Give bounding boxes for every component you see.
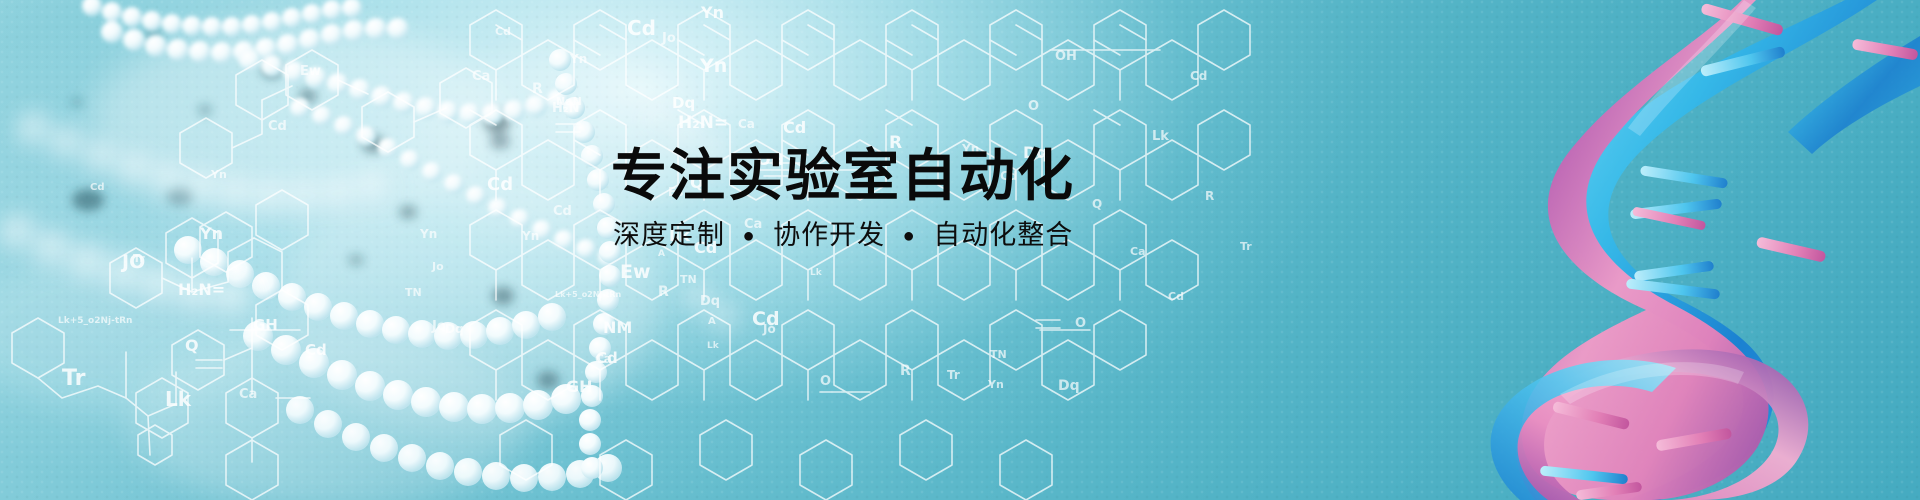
hero-banner: TrLk+5_o2Nj-tRnLkQCaGHH₂N=JOTrYnYnCdCdCd… [0,0,1920,500]
molecule-label: Yn [521,229,539,243]
molecule-label: Yn [199,224,223,243]
molecule-label: H₂N= [178,280,225,299]
molecule-label: Cd [305,341,327,359]
molecule-label: Q [185,336,199,355]
molecule-label: Cd [495,25,511,38]
molecule-label: Tr [947,368,960,382]
molecule-label: TN [990,348,1007,361]
molecule-label: NaN [556,95,582,108]
molecule-label: NM [603,318,632,337]
subtitle-part-2: 协作开发 [773,220,885,250]
molecule-label: Cd [627,16,656,40]
molecule-label: Ca [595,352,612,366]
bullet-separator-icon: ● [743,226,756,246]
page-title: 专注实验室自动化 [611,148,1311,204]
molecule-label: Yn [569,52,587,66]
molecule-label: Dq [445,322,464,336]
molecule-label: Ca [472,69,490,84]
molecule-label: Cd [268,119,287,134]
molecule-label: Dq [672,94,695,112]
molecule-label: Jo [661,31,676,46]
molecule-label: Dq [700,294,720,309]
molecule-label: Yn [987,378,1004,391]
molecule-label: O [1075,316,1086,331]
molecule-label: Ew [300,64,321,79]
bullet-separator-icon: ● [903,226,916,246]
molecule-label: Yn [419,227,437,241]
molecule-label: Lk [707,341,720,351]
molecule-label: Lk [1152,129,1169,144]
molecule-label: Cd [1190,69,1207,83]
molecule-label: Lk+5_o2Nj-tRn [555,290,621,299]
dot-texture-overlay [0,0,1920,500]
banner-text-block: 专注实验室自动化 深度定制 ● 协作开发 ● 自动化整合 [611,148,1311,249]
banner-subtitle: 深度定制 ● 协作开发 ● 自动化整合 [613,222,1311,249]
molecule-label: H₂N [552,101,579,116]
chemical-structure-overlay: TrLk+5_o2Nj-tRnLkQCaGHH₂N=JOTrYnYnCdCdCd… [0,0,1920,500]
molecule-label: Cd [783,118,806,137]
molecule-label: Cd [752,308,780,330]
molecule-label: Jo [431,260,444,273]
molecule-label: O [820,374,831,389]
pearl-dna-helix-artwork [0,0,1920,500]
molecule-label: Dq [1058,378,1080,394]
molecule-label: A [658,249,665,259]
molecule-label: R [900,363,911,379]
molecule-label: Jo [762,322,776,336]
molecule-label: TN [405,286,422,299]
molecule-label: TN [680,273,697,286]
molecule-label: H₂N= [678,113,728,133]
molecule-label: Cd [553,204,572,219]
molecule-label: Tr [133,252,145,265]
subtitle-part-3: 自动化整合 [933,220,1073,250]
molecule-label: A [708,316,716,327]
molecule-label: OH [1055,49,1077,64]
molecule-label: Ew [620,261,651,283]
molecule-label: Cd [90,182,105,193]
molecule-label: Lk+5_o2Nj-tRn [58,316,132,326]
molecule-label: Yn [700,3,724,22]
molecule-label: Ca [239,387,257,402]
molecule-label: Yn [699,55,727,77]
molecule-label: Jo [431,319,446,334]
molecule-label: R [532,81,543,97]
molecule-label: Tr [62,366,86,391]
molecule-label: Lk [165,387,192,411]
molecule-label: Cd [1168,290,1184,303]
molecule-label: GH [253,316,278,334]
molecule-label: R [658,284,669,300]
molecule-label: JO [120,251,145,273]
molecule-label: Cd [596,349,618,367]
molecule-label: Yn [210,168,227,181]
molecule-label: Cd [487,174,513,195]
subtitle-part-1: 深度定制 [613,220,725,250]
molecule-label: GH [566,377,593,396]
colored-dna-helix-artwork [0,0,1920,500]
molecule-label: O [1028,99,1039,114]
molecule-label: Lk [810,268,823,278]
molecule-label: Ca [738,117,755,131]
